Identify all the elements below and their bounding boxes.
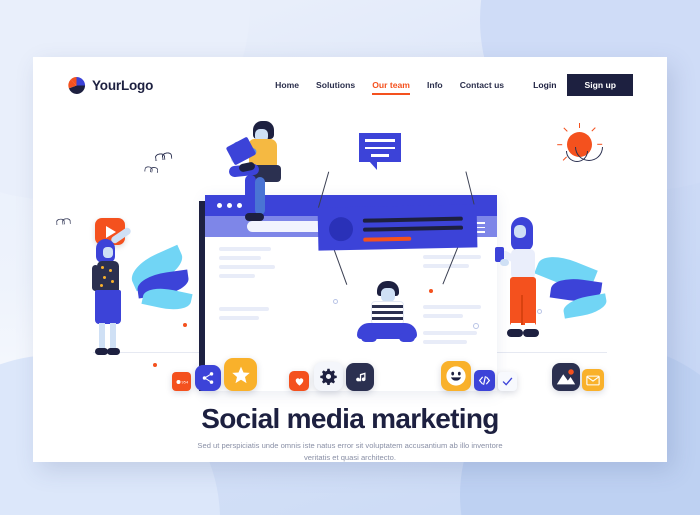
dot-decoration	[429, 289, 433, 293]
dot-decoration	[537, 309, 542, 314]
brand-name: YourLogo	[92, 78, 153, 93]
hero-text-block: Social media marketing Sed ut perspiciat…	[33, 405, 667, 462]
site-header: YourLogo Home Solutions Our team Info Co…	[33, 57, 667, 113]
sun-icon	[553, 123, 607, 167]
woman-with-phone	[501, 217, 549, 357]
settings-gear-icon[interactable]	[314, 362, 343, 391]
mail-envelope-icon[interactable]	[582, 369, 604, 391]
nav-item-home[interactable]: Home	[275, 80, 299, 90]
smiley-face-icon[interactable]	[441, 361, 471, 391]
bird-icon	[56, 218, 70, 225]
main-navigation: Home Solutions Our team Info Contact us …	[275, 74, 633, 96]
hanging-content-card	[318, 204, 478, 250]
pie-chart-logo-icon	[67, 76, 86, 95]
hero-subtitle: Sed ut perspiciatis unde omnis iste natu…	[185, 440, 515, 462]
man-sitting-on-browser	[229, 121, 291, 233]
nav-item-info[interactable]: Info	[427, 80, 443, 90]
page-title: Social media marketing	[33, 405, 667, 433]
brand-logo[interactable]: YourLogo	[67, 76, 153, 95]
notification-badge-icon[interactable]: 954	[172, 372, 191, 391]
dot-decoration	[473, 323, 479, 329]
music-note-icon[interactable]	[346, 363, 374, 391]
login-link[interactable]: Login	[533, 80, 556, 90]
check-icon[interactable]	[498, 372, 517, 391]
dot-decoration	[183, 323, 187, 327]
bird-icon	[144, 166, 157, 173]
photo-image-icon[interactable]	[552, 363, 580, 391]
app-icon-row: 954	[33, 345, 667, 391]
nav-item-contact-us[interactable]: Contact us	[460, 80, 504, 90]
dot-decoration	[333, 299, 338, 304]
card-avatar	[329, 217, 353, 241]
nav-item-solutions[interactable]: Solutions	[316, 80, 355, 90]
landing-page-card: YourLogo Home Solutions Our team Info Co…	[33, 57, 667, 462]
code-icon[interactable]	[474, 370, 495, 391]
woman-pointing-at-video	[89, 225, 139, 357]
speech-bubble-icon	[359, 133, 401, 162]
share-icon[interactable]	[195, 365, 221, 391]
sign-up-button[interactable]: Sign up	[567, 74, 633, 96]
svg-text:954: 954	[181, 380, 188, 384]
star-icon[interactable]	[224, 358, 257, 391]
nav-item-our-team[interactable]: Our team	[372, 80, 410, 90]
bird-icon	[155, 152, 172, 161]
heart-icon[interactable]	[289, 371, 309, 391]
hero-illustration: 954	[33, 113, 667, 405]
man-sitting-crosslegged	[357, 281, 419, 347]
